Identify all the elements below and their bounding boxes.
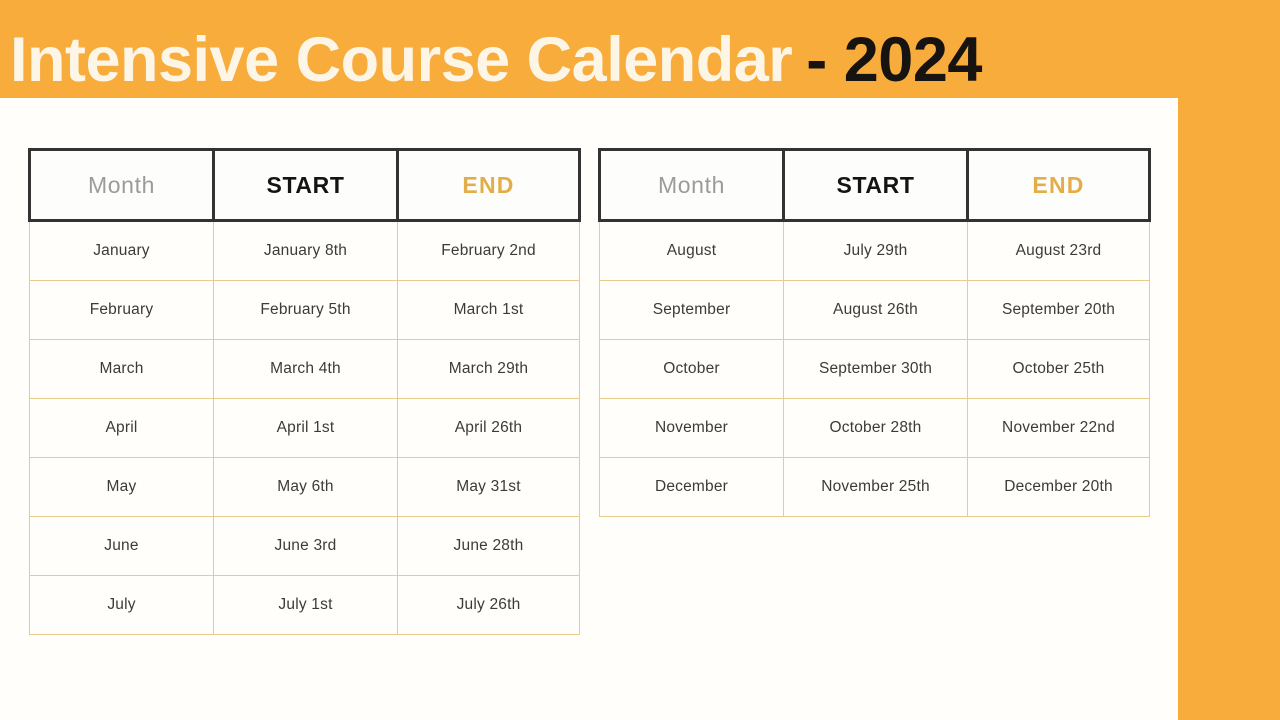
cell-end: October 25th <box>968 340 1150 399</box>
column-header-month: Month <box>600 150 784 221</box>
table-row: September August 26th September 20th <box>600 281 1150 340</box>
page-title-main: Intensive Course Calendar <box>10 29 792 92</box>
cell-end: April 26th <box>398 399 580 458</box>
calendar-table-second-half: Month START END August July 29th August … <box>598 148 1151 517</box>
cell-month: February <box>30 281 214 340</box>
calendar-table-first-half: Month START END January January 8th Febr… <box>28 148 581 635</box>
table-row: June June 3rd June 28th <box>30 517 580 576</box>
cell-start: November 25th <box>784 458 968 517</box>
table-row: March March 4th March 29th <box>30 340 580 399</box>
cell-month: May <box>30 458 214 517</box>
column-header-start: START <box>214 150 398 221</box>
cell-month: July <box>30 576 214 635</box>
column-header-end: END <box>398 150 580 221</box>
cell-start: September 30th <box>784 340 968 399</box>
table-row: October September 30th October 25th <box>600 340 1150 399</box>
table-row: November October 28th November 22nd <box>600 399 1150 458</box>
cell-month: November <box>600 399 784 458</box>
cell-start: May 6th <box>214 458 398 517</box>
cell-start: June 3rd <box>214 517 398 576</box>
cell-month: August <box>600 221 784 281</box>
cell-end: August 23rd <box>968 221 1150 281</box>
page-title: Intensive Course Calendar - 2024 <box>10 24 982 96</box>
table-body: August July 29th August 23rd September A… <box>600 221 1150 517</box>
cell-end: July 26th <box>398 576 580 635</box>
table-row: May May 6th May 31st <box>30 458 580 517</box>
cell-end: November 22nd <box>968 399 1150 458</box>
cell-end: March 29th <box>398 340 580 399</box>
table-row: August July 29th August 23rd <box>600 221 1150 281</box>
cell-start: October 28th <box>784 399 968 458</box>
cell-end: May 31st <box>398 458 580 517</box>
cell-month: September <box>600 281 784 340</box>
cell-end: June 28th <box>398 517 580 576</box>
cell-end: September 20th <box>968 281 1150 340</box>
table-row: January January 8th February 2nd <box>30 221 580 281</box>
cell-start: April 1st <box>214 399 398 458</box>
cell-start: January 8th <box>214 221 398 281</box>
cell-start: August 26th <box>784 281 968 340</box>
column-header-end: END <box>968 150 1150 221</box>
table-row: December November 25th December 20th <box>600 458 1150 517</box>
column-header-month: Month <box>30 150 214 221</box>
cell-month: October <box>600 340 784 399</box>
cell-month: April <box>30 399 214 458</box>
cell-start: February 5th <box>214 281 398 340</box>
cell-end: February 2nd <box>398 221 580 281</box>
page-title-year: - 2024 <box>806 29 982 92</box>
table-body: January January 8th February 2nd Februar… <box>30 221 580 635</box>
cell-end: December 20th <box>968 458 1150 517</box>
table-row: February February 5th March 1st <box>30 281 580 340</box>
cell-end: March 1st <box>398 281 580 340</box>
table-header-row: Month START END <box>30 150 580 221</box>
table-header-row: Month START END <box>600 150 1150 221</box>
cell-start: July 29th <box>784 221 968 281</box>
cell-start: July 1st <box>214 576 398 635</box>
column-header-start: START <box>784 150 968 221</box>
table-row: July July 1st July 26th <box>30 576 580 635</box>
cell-month: March <box>30 340 214 399</box>
cell-month: June <box>30 517 214 576</box>
cell-month: January <box>30 221 214 281</box>
poster-background: Intensive Course Calendar - 2024 Month S… <box>0 0 1280 720</box>
table-row: April April 1st April 26th <box>30 399 580 458</box>
cell-start: March 4th <box>214 340 398 399</box>
cell-month: December <box>600 458 784 517</box>
